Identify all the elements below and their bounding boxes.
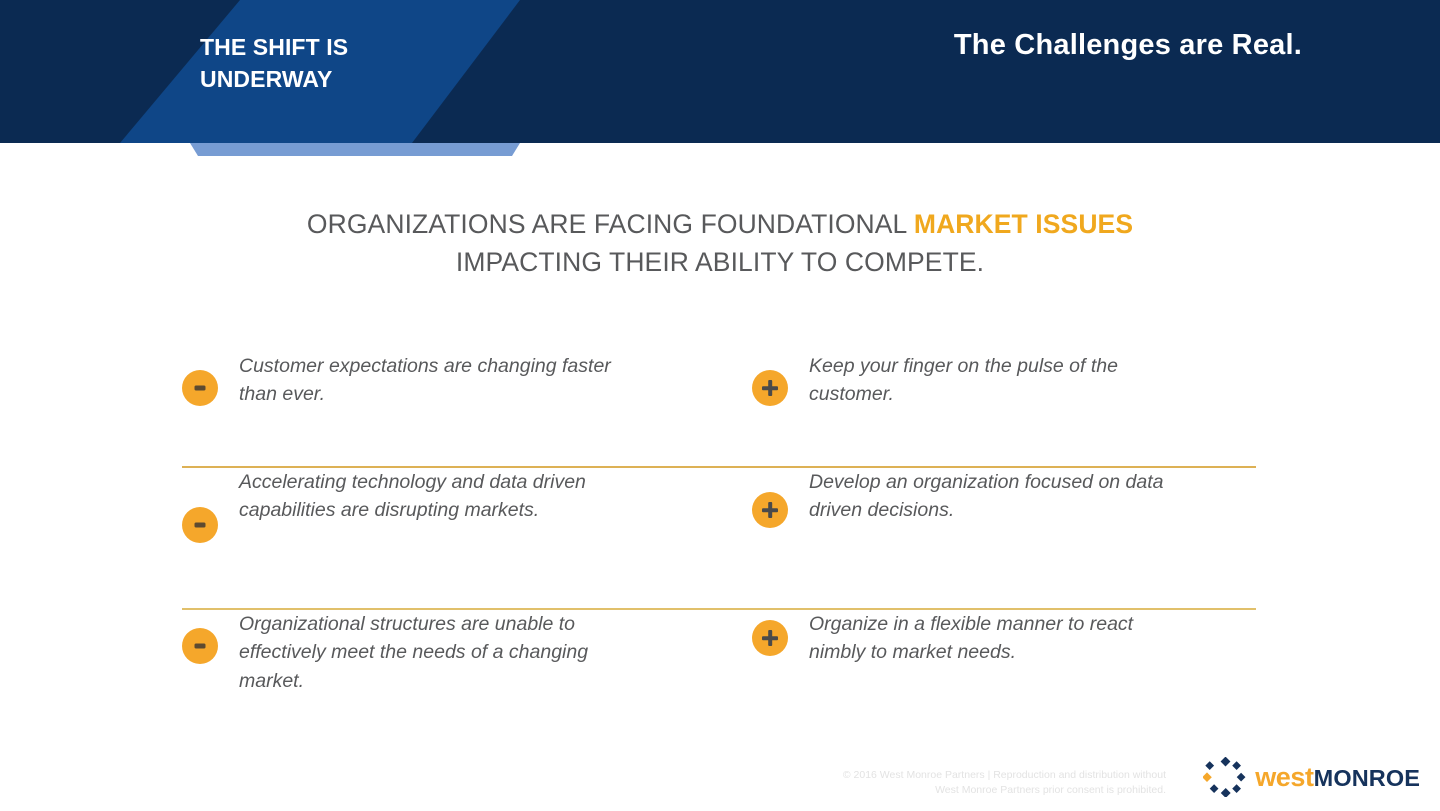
solution-text: Organize in a flexible manner to react n… xyxy=(809,610,1189,667)
banner-parallelogram-accent-strip xyxy=(120,143,520,156)
plus-icon xyxy=(752,620,788,656)
grid-row: Organizational structures are unable to … xyxy=(182,610,1256,730)
challenge-solution-grid: Customer expectations are changing faste… xyxy=(182,352,1256,730)
challenge-cell: Accelerating technology and data driven … xyxy=(182,468,712,608)
copyright-line-1: © 2016 West Monroe Partners | Reproducti… xyxy=(806,768,1166,782)
challenge-cell: Organizational structures are unable to … xyxy=(182,610,712,730)
headline-prefix: ORGANIZATIONS ARE FACING FOUNDATIONAL xyxy=(307,209,914,239)
headline-line-2: IMPACTING THEIR ABILITY TO COMPETE. xyxy=(0,244,1440,282)
plus-icon xyxy=(752,492,788,528)
solution-text: Keep your finger on the pulse of the cus… xyxy=(809,352,1189,409)
slide-title: The Challenges are Real. xyxy=(954,29,1302,62)
west-monroe-dot-mark-icon xyxy=(1203,757,1249,797)
headline-line-1: ORGANIZATIONS ARE FACING FOUNDATIONAL MA… xyxy=(0,206,1440,244)
minus-icon xyxy=(182,370,218,406)
logo-monroe-text: MONROE xyxy=(1314,765,1420,791)
section-label: THE SHIFT IS UNDERWAY xyxy=(200,32,470,95)
west-monroe-logo: westMONROE xyxy=(1203,756,1420,798)
logo-west-text: west xyxy=(1255,762,1313,792)
challenge-cell: Customer expectations are changing faste… xyxy=(182,352,712,466)
copyright-line-2: West Monroe Partners prior consent is pr… xyxy=(806,783,1166,797)
copyright-notice: © 2016 West Monroe Partners | Reproducti… xyxy=(806,768,1166,797)
slide-canvas: THE SHIFT IS UNDERWAY The Challenges are… xyxy=(0,0,1440,811)
solution-cell: Organize in a flexible manner to react n… xyxy=(712,610,1256,730)
minus-icon xyxy=(182,628,218,664)
grid-row: Accelerating technology and data driven … xyxy=(182,468,1256,608)
headline: ORGANIZATIONS ARE FACING FOUNDATIONAL MA… xyxy=(0,206,1440,281)
logo-wordmark: westMONROE xyxy=(1255,764,1420,791)
plus-icon xyxy=(752,370,788,406)
challenge-text: Customer expectations are changing faste… xyxy=(239,352,639,409)
solution-cell: Develop an organization focused on data … xyxy=(712,468,1256,608)
challenge-text: Organizational structures are unable to … xyxy=(239,610,639,695)
headline-accent: MARKET ISSUES xyxy=(914,209,1133,239)
solution-cell: Keep your finger on the pulse of the cus… xyxy=(712,352,1256,466)
solution-text: Develop an organization focused on data … xyxy=(809,468,1189,525)
grid-row: Customer expectations are changing faste… xyxy=(182,352,1256,466)
challenge-text: Accelerating technology and data driven … xyxy=(239,468,639,525)
minus-icon xyxy=(182,507,218,543)
